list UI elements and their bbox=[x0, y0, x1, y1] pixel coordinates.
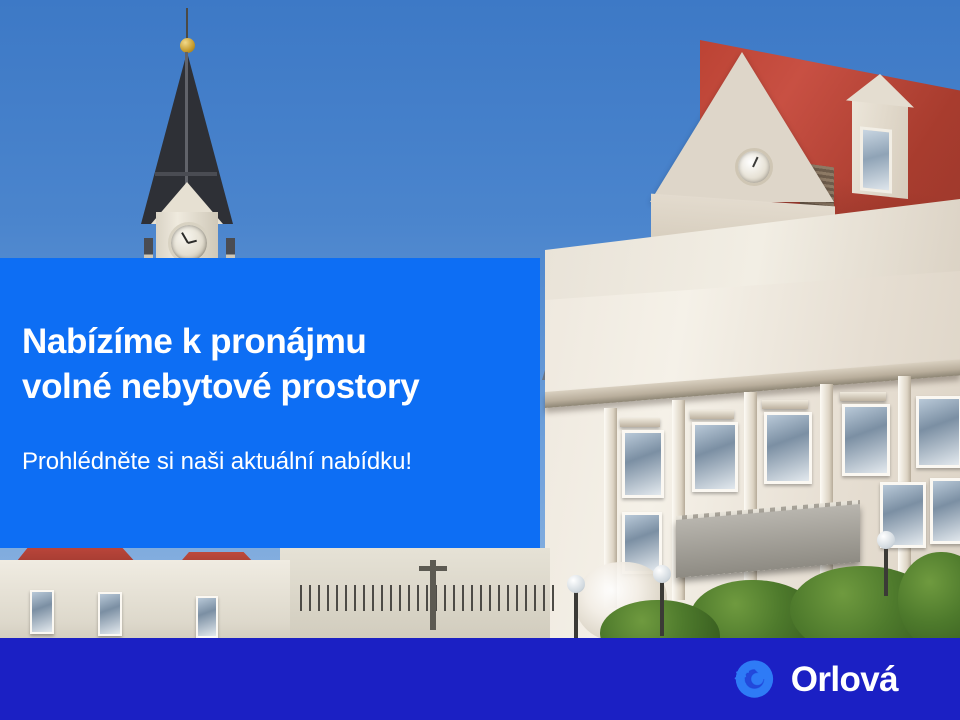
promo-headline: Nabízíme k pronájmu volné nebytové prost… bbox=[22, 320, 510, 410]
street-lamp bbox=[574, 584, 578, 638]
facade-window bbox=[930, 478, 960, 544]
window-cap bbox=[690, 410, 734, 419]
orlova-logo-text: Orlová bbox=[791, 662, 898, 697]
promo-text-card: Nabízíme k pronájmu volné nebytové prost… bbox=[0, 258, 540, 548]
lamp-globe bbox=[653, 565, 671, 583]
promo-headline-line-2: volné nebytové prostory bbox=[22, 367, 419, 406]
promo-subline: Prohlédněte si naši aktuální nabídku! bbox=[22, 448, 510, 476]
tower-spire-band bbox=[155, 172, 217, 176]
facade-window bbox=[622, 430, 664, 498]
facade-window bbox=[98, 592, 122, 636]
facade-window bbox=[842, 404, 890, 476]
street-lamp bbox=[660, 574, 664, 636]
facade-window bbox=[196, 596, 218, 638]
lamp-globe bbox=[567, 575, 585, 593]
promo-headline-line-1: Nabízíme k pronájmu bbox=[22, 322, 366, 361]
promo-banner: Nabízíme k pronájmu volné nebytové prost… bbox=[0, 0, 960, 720]
window-cap bbox=[840, 392, 886, 401]
dormer-window bbox=[860, 126, 892, 193]
facade-window bbox=[692, 422, 738, 492]
tower-finial-ball bbox=[180, 38, 195, 53]
orlova-swirl-icon bbox=[730, 656, 776, 702]
orlova-logo[interactable]: Orlová bbox=[730, 656, 898, 702]
stone-cross-monument bbox=[430, 560, 436, 630]
window-cap bbox=[762, 400, 808, 409]
gable-clock-face bbox=[735, 148, 773, 186]
lamp-globe bbox=[877, 531, 895, 549]
facade-window bbox=[30, 590, 54, 634]
facade-window bbox=[916, 396, 960, 468]
footer-bar: Orlová bbox=[0, 638, 960, 720]
street-lamp bbox=[884, 540, 888, 596]
window-cap bbox=[620, 418, 660, 427]
facade-window bbox=[764, 412, 812, 484]
